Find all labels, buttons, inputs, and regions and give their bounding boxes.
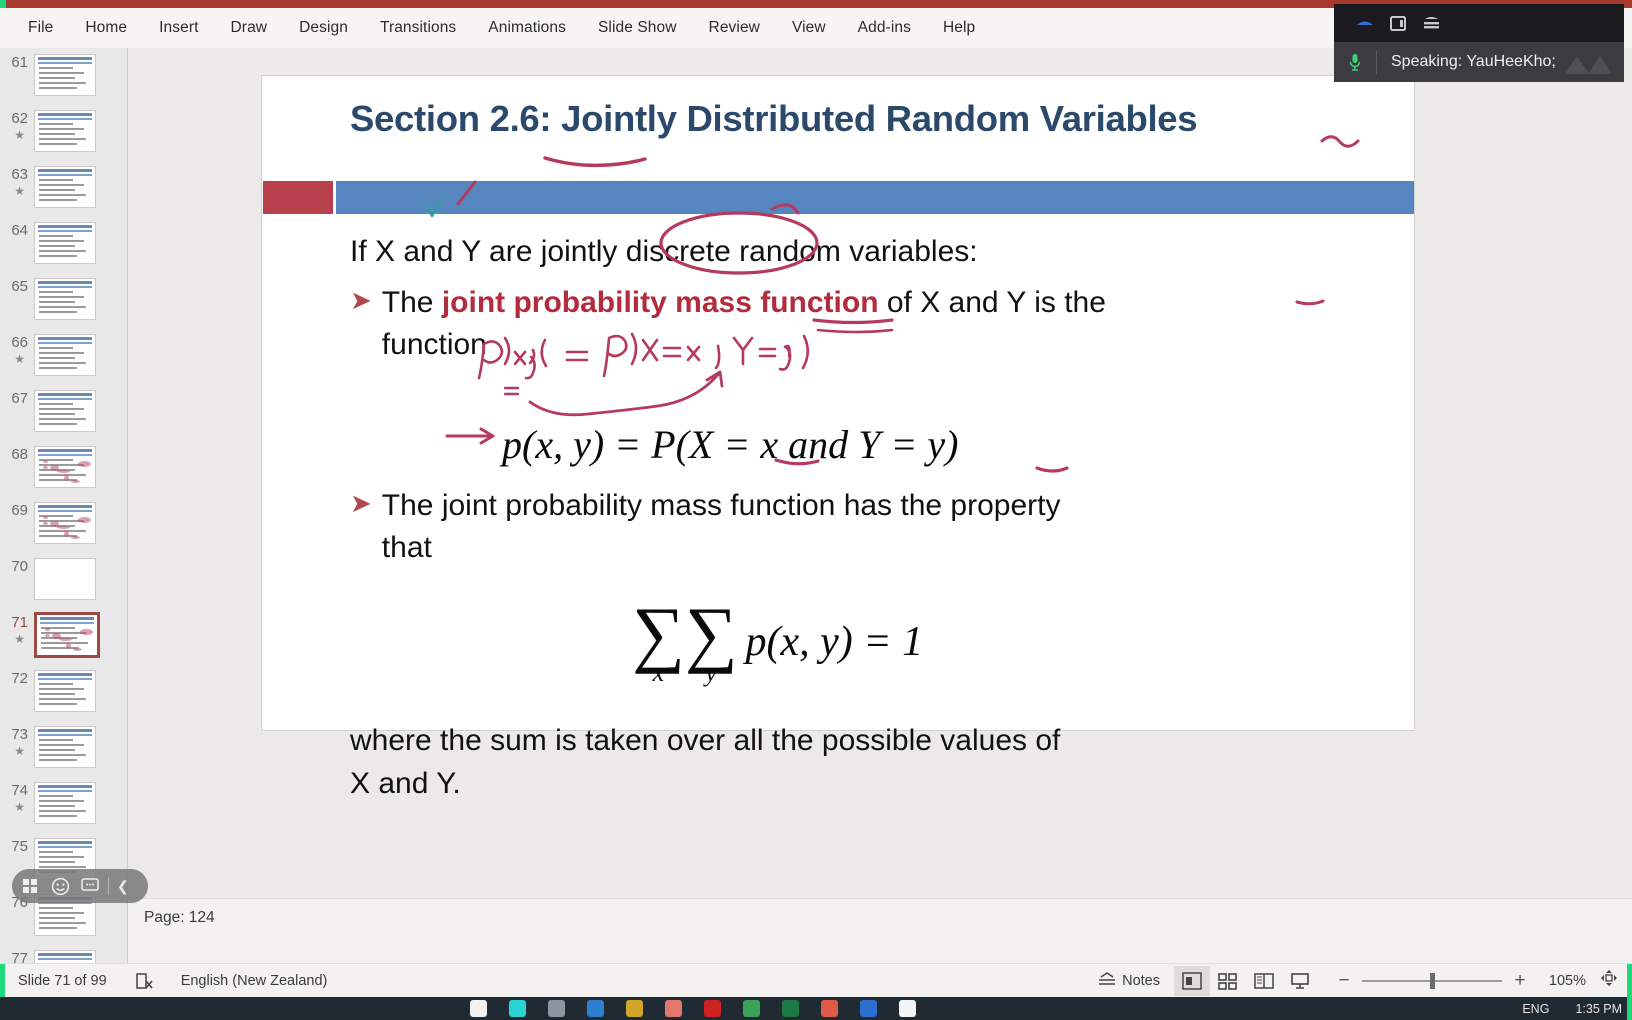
thumb-mini-ink (57, 470, 70, 473)
thumbnail-preview[interactable] (34, 782, 96, 824)
view-button-reading[interactable] (1246, 966, 1282, 996)
closing-text: where the sum is taken over all the poss… (350, 720, 1360, 805)
screen-share-accent-left (0, 0, 6, 8)
sigma-x-group: ∑ x (632, 606, 685, 688)
thumbnail-item-65[interactable]: 65 (0, 272, 128, 328)
thumb-mini-line (39, 301, 75, 303)
thumb-mini-line (39, 759, 77, 761)
minimize-icon[interactable] (1356, 17, 1374, 29)
thumb-mini-line (39, 67, 73, 69)
thumb-mini-line (39, 703, 77, 705)
taskbar-icon-teal-app[interactable] (509, 1000, 526, 1017)
thumbnail-item-67[interactable]: 67 (0, 384, 128, 440)
thumb-mini-line (39, 800, 84, 802)
notes-text[interactable]: Page: 124 (144, 909, 215, 927)
thumb-mini-line (39, 683, 73, 685)
thumb-mini-ink (45, 628, 50, 631)
sigma-sub-y: y (705, 658, 717, 688)
thumb-mini-line (39, 744, 84, 746)
notes-label: Notes (1122, 973, 1160, 989)
bullet-arrow-icon: ➤ (350, 282, 372, 320)
zoom-slider[interactable] (1362, 980, 1502, 982)
thumb-mini-line (39, 291, 73, 293)
thumbnail-preview[interactable] (34, 612, 100, 658)
slide-banner-blue-bar (336, 181, 1414, 214)
sigma-icon-y: ∑ (685, 606, 738, 664)
thumb-mini-bar (38, 454, 92, 456)
thumbnail-number-col: 64 (0, 222, 32, 239)
thumbnail-preview[interactable] (34, 726, 96, 768)
thumbnail-number: 62 (11, 111, 28, 127)
thumbnail-item-72[interactable]: 72 (0, 664, 128, 720)
closing-line-2: X and Y. (350, 763, 1360, 806)
thumb-mini-ink (71, 536, 80, 539)
thumb-mini-line (39, 912, 84, 914)
thumb-mini-line (39, 815, 77, 817)
thumbnail-preview[interactable] (34, 222, 96, 264)
taskbar-clock[interactable]: 1:35 PM (1575, 1002, 1622, 1016)
bullet-2-text: The joint probability mass function has … (382, 485, 1061, 570)
bullet-item-2: ➤ The joint probability mass function ha… (350, 485, 1360, 570)
thumbnail-preview[interactable] (34, 502, 96, 544)
thumb-mini-line (39, 856, 84, 858)
animation-star-icon: ★ (14, 801, 25, 814)
thumb-mini-ink (43, 516, 48, 519)
status-bar: Slide 71 of 99 English (New Zealand) Not… (0, 963, 1632, 997)
thumbnail-number: 73 (11, 727, 28, 743)
thumb-mini-bar (38, 734, 92, 736)
bullet-1-post: of X and Y is the (879, 286, 1106, 319)
ribbon-tab-help[interactable]: Help (927, 14, 991, 42)
ribbon-tab-design[interactable]: Design (283, 14, 364, 42)
thumb-mini-line (39, 296, 84, 298)
thumbnail-number: 77 (11, 951, 28, 963)
thumbnail-number: 66 (11, 335, 28, 351)
thumbnail-preview[interactable] (34, 446, 96, 488)
thumbnail-number-col: 72 (0, 670, 32, 687)
thumbnail-item-61[interactable]: 61 (0, 48, 128, 104)
thumb-mini-title (38, 393, 92, 396)
share-accent-right (1627, 964, 1632, 998)
thumb-mini-line (39, 77, 75, 79)
taskbar-icon-salmon-app[interactable] (665, 1000, 682, 1017)
thumb-mini-line (39, 474, 86, 476)
thumbnail-number-col: 77 (0, 950, 32, 963)
thumb-mini-line (39, 245, 75, 247)
slide-thumbnail-pane[interactable]: 6162★63★646566★6768697071★7273★74★757677 (0, 48, 128, 963)
thumb-mini-line (39, 698, 86, 700)
thumb-mini-line (39, 189, 75, 191)
intro-var-x: X (375, 235, 395, 268)
equation-2-body: p(x, y) = 1 (746, 606, 924, 666)
chevron-left-icon[interactable]: ❮ (115, 878, 129, 895)
thumb-mini-ink (43, 466, 48, 469)
zoom-out-button[interactable]: − (1336, 970, 1352, 992)
thumb-mini-bar (38, 230, 92, 232)
thumbnail-number: 70 (11, 559, 28, 575)
animation-star-icon: ★ (14, 129, 25, 142)
thumb-mini-bar (38, 510, 92, 512)
emoji-reaction-icon[interactable] (48, 875, 72, 897)
bullet-2-line2: that (382, 531, 432, 564)
slide-banner-red-block (263, 181, 333, 214)
grid-view-icon[interactable] (18, 875, 42, 897)
thumb-mini-line (39, 861, 75, 863)
thumbnail-item-69[interactable]: 69 (0, 496, 128, 552)
thumbnail-preview[interactable] (34, 950, 96, 963)
thumb-mini-bar (38, 62, 92, 64)
powerpoint-window: File Home Insert Draw Design Transitions… (0, 0, 1632, 1020)
thumbnail-number-col: 63★ (0, 166, 32, 198)
bullet-arrow-icon-2: ➤ (350, 485, 372, 523)
taskbar-icon-blue2-app[interactable] (860, 1000, 877, 1017)
thumb-mini-line (39, 194, 86, 196)
thumb-mini-line (39, 72, 84, 74)
thumb-mini-line (39, 235, 73, 237)
ribbon-tab-slide-show[interactable]: Slide Show (582, 14, 693, 42)
intro-mid2: are jointly (481, 235, 626, 268)
thumbnail-number-col: 65 (0, 278, 32, 295)
thumb-mini-title (38, 169, 92, 172)
language-indicator[interactable]: English (New Zealand) (181, 973, 328, 989)
thumbnail-number-col: 75 (0, 838, 32, 855)
ribbon-tab-animations[interactable]: Animations (472, 14, 582, 42)
taskbar-icon-red-app[interactable] (704, 1000, 721, 1017)
thumbnail-number-col: 61 (0, 54, 32, 71)
meeting-window-controls[interactable] (1334, 4, 1624, 42)
thumb-mini-bar (38, 118, 92, 120)
thumb-mini-title (38, 785, 92, 788)
thumb-mini-line (39, 418, 86, 420)
intro-var-y: Y (461, 235, 480, 268)
taskbar-language[interactable]: ENG (1522, 1002, 1549, 1016)
taskbar-icon-green2-app[interactable] (782, 1000, 799, 1017)
thumb-mini-title (38, 729, 92, 732)
thumbnail-preview[interactable] (34, 278, 96, 320)
animation-star-icon: ★ (14, 633, 25, 646)
thumb-mini-line (39, 907, 73, 909)
speaking-indicator: Speaking: YauHeeKho; (1334, 42, 1624, 82)
windows-taskbar: ENG 1:35 PM (0, 997, 1632, 1020)
thumb-mini-ink (64, 531, 69, 537)
taskbar-icon-amber-app[interactable] (626, 1000, 643, 1017)
zoom-in-button[interactable]: + (1512, 970, 1528, 992)
thumb-mini-line (39, 805, 75, 807)
thumb-mini-bar (38, 286, 92, 288)
taskbar-system-tray[interactable]: ENG 1:35 PM (1522, 1002, 1622, 1016)
thumbnail-number-col: 66★ (0, 334, 32, 366)
overlay-divider (1376, 50, 1377, 74)
slide-title[interactable]: Section 2.6: Jointly Distributed Random … (350, 98, 1360, 140)
thumbnail-number: 74 (11, 783, 28, 799)
thumb-mini-line (39, 128, 84, 130)
thumbnail-preview[interactable] (34, 334, 96, 376)
thumb-mini-line (39, 922, 86, 924)
thumb-mini-line (39, 367, 77, 369)
thumbnail-item-70[interactable]: 70 (0, 552, 128, 608)
thumb-mini-line (39, 352, 84, 354)
thumbnail-number-col: 62★ (0, 110, 32, 142)
notes-toggle-button[interactable]: Notes (1097, 971, 1160, 991)
zoom-slider-handle[interactable] (1430, 973, 1435, 989)
bullet-1-line2: function (382, 328, 487, 361)
hamburger-menu-icon[interactable] (1422, 16, 1441, 31)
thumb-mini-bar (38, 174, 92, 176)
thumb-mini-title (38, 841, 92, 844)
equation-joint-pmf: p(x, y) = P(X = x and Y = y) (502, 421, 958, 468)
thumb-mini-line (39, 123, 73, 125)
thumb-mini-line (39, 413, 75, 415)
slide-counter[interactable]: Slide 71 of 99 (18, 973, 107, 989)
closing-line-1: where the sum is taken over all the poss… (350, 720, 1360, 763)
thumb-mini-bar (40, 622, 94, 624)
thumb-mini-line (39, 347, 73, 349)
thumb-mini-title (38, 113, 92, 116)
thumb-mini-bar (38, 958, 92, 960)
thumbnail-preview[interactable] (34, 390, 96, 432)
thumb-mini-ink (43, 522, 48, 525)
thumb-mini-line (39, 754, 86, 756)
thumb-mini-title (38, 449, 92, 452)
thumbnail-item-66[interactable]: 66★ (0, 328, 128, 384)
thumbnail-item-77[interactable]: 77 (0, 944, 128, 963)
thumb-mini-line (39, 927, 77, 929)
taskbar-app-icons[interactable] (470, 1000, 916, 1017)
thumb-mini-line (39, 866, 86, 868)
thumb-mini-line (39, 810, 86, 812)
view-button-slide-show[interactable] (1282, 966, 1318, 996)
bullet-item-1: ➤ The joint probability mass function of… (350, 282, 1360, 367)
meeting-overlay[interactable]: Speaking: YauHeeKho; (1334, 4, 1624, 82)
thumbnail-number: 68 (11, 447, 28, 463)
thumb-mini-line (39, 87, 77, 89)
thumb-mini-line (39, 357, 75, 359)
slide-edit-area: Section 2.6: Jointly Distributed Random … (128, 48, 1632, 898)
thumb-mini-line (39, 362, 86, 364)
taskbar-icon-active-app[interactable] (821, 1000, 838, 1017)
taskbar-icon-white-app[interactable] (899, 1000, 916, 1017)
thumb-mini-ink (78, 517, 91, 523)
taskbar-icon-blue-app[interactable] (587, 1000, 604, 1017)
thumb-mini-title (38, 337, 92, 340)
thumb-mini-line (39, 530, 86, 532)
thumb-mini-ink (66, 643, 71, 649)
taskbar-icon-explorer[interactable] (470, 1000, 487, 1017)
thumbnail-preview[interactable] (34, 110, 96, 152)
thumbnail-preview[interactable] (34, 54, 96, 96)
ribbon-tab-transitions[interactable]: Transitions (364, 14, 472, 42)
slide-body-text[interactable]: If X and Y are jointly discrete random v… (350, 231, 1360, 805)
thumb-mini-ink (78, 461, 91, 467)
zoom-percent-label[interactable]: 105% (1540, 973, 1586, 989)
thumb-mini-line (39, 408, 84, 410)
thumbnail-number: 61 (11, 55, 28, 71)
sigma-y-group: ∑ y (685, 606, 738, 688)
thumb-mini-line (39, 240, 84, 242)
thumb-mini-title (38, 281, 92, 284)
thumb-mini-line (39, 423, 77, 425)
intro-line: If X and Y are jointly discrete random v… (350, 231, 1360, 274)
thumbnail-item-74[interactable]: 74★ (0, 776, 128, 832)
thumb-mini-line (39, 306, 86, 308)
thumb-mini-line (39, 255, 77, 257)
thumb-mini-title (38, 225, 92, 228)
animation-star-icon: ★ (14, 185, 25, 198)
ribbon-tab-review[interactable]: Review (693, 14, 776, 42)
sigma-icon-x: ∑ (632, 606, 685, 664)
slide-canvas[interactable]: Section 2.6: Jointly Distributed Random … (262, 76, 1414, 730)
animation-star-icon: ★ (14, 353, 25, 366)
thumb-mini-ink (80, 629, 93, 635)
toolbar-divider (108, 877, 109, 895)
thumb-mini-line (39, 688, 84, 690)
thumbnail-number-col: 73★ (0, 726, 32, 758)
thumbnail-number-col: 69 (0, 502, 32, 519)
thumb-mini-line (39, 133, 75, 135)
thumb-mini-line (39, 749, 75, 751)
thumb-mini-line (39, 403, 73, 405)
thumb-mini-line (39, 311, 77, 313)
taskbar-icon-grey-app[interactable] (548, 1000, 565, 1017)
thumb-mini-line (39, 851, 73, 853)
view-button-normal[interactable] (1174, 966, 1210, 996)
thumb-mini-bar (38, 342, 92, 344)
thumbnail-number-col: 74★ (0, 782, 32, 814)
thumbnail-item-73[interactable]: 73★ (0, 720, 128, 776)
thumb-mini-ink (43, 460, 48, 463)
thumbnail-item-63[interactable]: 63★ (0, 160, 128, 216)
thumbnail-number: 65 (11, 279, 28, 295)
thumbnail-number-col: 68 (0, 446, 32, 463)
intro-circled-word: discrete (626, 235, 731, 268)
thumb-mini-line (39, 917, 75, 919)
bullet-1-pre: The (382, 286, 442, 319)
ribbon-tab-view[interactable]: View (776, 14, 842, 42)
thumb-mini-line (39, 82, 86, 84)
view-button-slide-sorter[interactable] (1210, 966, 1246, 996)
thumbnail-number-col: 70 (0, 558, 32, 575)
ribbon-tab-draw[interactable]: Draw (215, 14, 284, 42)
restore-window-icon[interactable] (1390, 16, 1406, 31)
animation-star-icon: ★ (14, 745, 25, 758)
thumbnail-number: 71 (11, 615, 28, 631)
thumbnail-number: 67 (11, 391, 28, 407)
thumbnail-item-62[interactable]: 62★ (0, 104, 128, 160)
notes-pane[interactable]: Page: 124 (128, 898, 1632, 938)
thumbnail-number-col: 71★ (0, 614, 32, 646)
thumbnail-item-71[interactable]: 71★ (0, 608, 128, 664)
speaking-label: Speaking: YauHeeKho; (1391, 53, 1556, 71)
thumb-mini-ink (59, 638, 72, 641)
thumb-mini-ink (64, 475, 69, 481)
thumb-mini-line (41, 642, 88, 644)
thumbnail-preview[interactable] (34, 166, 96, 208)
meeting-floating-toolbar[interactable]: ❮ (12, 869, 148, 903)
ribbon-tab-insert[interactable]: Insert (143, 14, 214, 42)
share-accent-left (0, 964, 5, 998)
thumb-mini-ink (73, 648, 82, 651)
thumbnail-number: 75 (11, 839, 28, 855)
thumb-mini-title (38, 953, 92, 956)
thumb-mini-line (39, 179, 73, 181)
thumb-mini-title (38, 505, 92, 508)
thumb-mini-line (39, 199, 77, 201)
thumbnail-number: 72 (11, 671, 28, 687)
zoom-control[interactable]: − + (1336, 970, 1528, 992)
ribbon-tab-file[interactable]: File (12, 14, 69, 42)
thumb-mini-bar (38, 846, 92, 848)
intro-suffix: random variables: (731, 235, 978, 268)
microphone-icon[interactable] (1348, 52, 1362, 72)
thumb-mini-title (40, 617, 94, 620)
thumb-mini-bar (38, 790, 92, 792)
thumb-mini-ink (45, 634, 50, 637)
thumb-mini-line (39, 250, 86, 252)
thumb-mini-line (39, 795, 73, 797)
notes-caret-icon (1097, 971, 1117, 991)
fit-slide-to-window-icon[interactable] (1600, 969, 1618, 992)
thumbnail-number-col: 67 (0, 390, 32, 407)
thumbnail-number: 63 (11, 167, 28, 183)
thumbnail-item-64[interactable]: 64 (0, 216, 128, 272)
bullet-2-line1: The joint probability mass function has … (382, 489, 1061, 522)
thumb-mini-line (39, 739, 73, 741)
bullet-1-emphasis: joint probability mass function (442, 286, 879, 319)
thumb-mini-line (39, 138, 86, 140)
taskbar-icon-green-app[interactable] (743, 1000, 760, 1017)
thumb-mini-line (39, 184, 84, 186)
thumb-mini-line (39, 143, 77, 145)
thumb-mini-ink (71, 480, 80, 483)
thumb-mini-title (38, 57, 92, 60)
sigma-sub-x: x (653, 658, 665, 688)
thumbnail-item-68[interactable]: 68 (0, 440, 128, 496)
accessibility-check-icon[interactable] (135, 972, 153, 990)
intro-mid1: and (395, 235, 461, 268)
chat-bubble-icon[interactable] (78, 875, 102, 897)
thumbnail-preview[interactable] (34, 670, 96, 712)
thumb-mini-bar (38, 398, 92, 400)
equation-1-text: p(x, y) = P(X = x and Y = y) (502, 422, 958, 467)
thumb-mini-line (39, 693, 75, 695)
ribbon-tab-home[interactable]: Home (69, 14, 143, 42)
overlay-watermark (1560, 46, 1624, 80)
thumb-mini-ink (57, 526, 70, 529)
thumbnail-number: 69 (11, 503, 28, 519)
thumb-mini-title (38, 673, 92, 676)
thumb-mini-bar (38, 678, 92, 680)
intro-prefix: If (350, 235, 375, 268)
bullet-1-text: The joint probability mass function of X… (382, 282, 1106, 367)
ribbon-tab-add-ins[interactable]: Add-ins (842, 14, 927, 42)
share-accent-taskbar (1627, 997, 1632, 1020)
equation-double-sum: ∑ x ∑ y p(x, y) = 1 (632, 606, 923, 688)
thumbnail-preview[interactable] (34, 558, 96, 600)
thumbnail-number: 64 (11, 223, 28, 239)
